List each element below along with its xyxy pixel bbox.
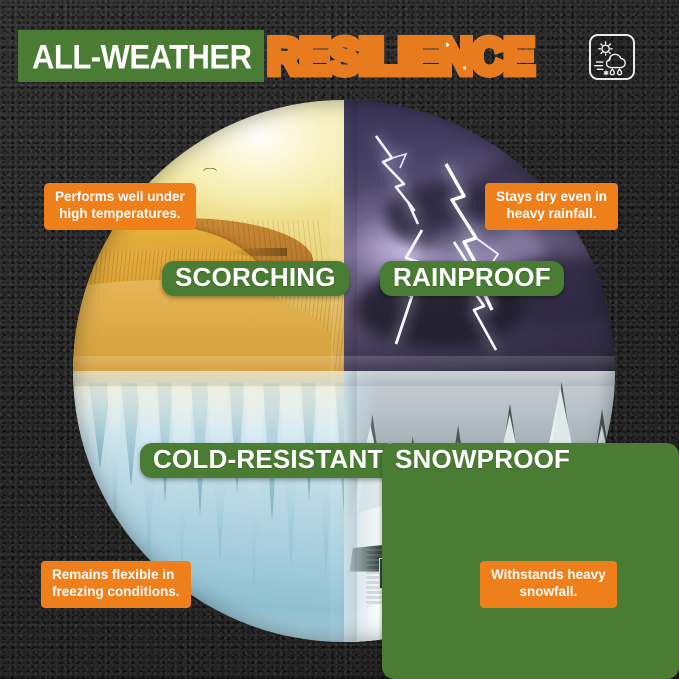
callout-rainproof: Stays dry even in heavy rainfall. (485, 183, 618, 230)
header-title-bar: ALL-WEATHER RESILIENCE (18, 30, 540, 82)
title-part2-text: RESILIENCE (268, 31, 534, 81)
label-cold-resistant: COLD-RESISTANT (140, 443, 397, 478)
callout-snowproof-line1: Withstands heavy (491, 567, 606, 584)
callout-cold-resistant: Remains flexible in freezing conditions. (41, 561, 191, 608)
weather-sun-cloud-wind-rain-snow-icon (591, 36, 633, 78)
callout-rainproof-line1: Stays dry even in (496, 189, 607, 206)
callout-scorching-line1: Performs well under (55, 189, 185, 206)
quadrant-rainproof-image (344, 100, 615, 371)
callout-snowproof: Withstands heavy snowfall. (480, 561, 617, 608)
title-part1-banner: ALL-WEATHER (18, 30, 264, 82)
label-scorching-text: SCORCHING (175, 264, 336, 291)
weather-badge (589, 34, 635, 80)
title-part1-text: ALL-WEATHER (32, 39, 252, 74)
callout-snowproof-line2: snowfall. (491, 584, 606, 601)
callout-rainproof-line2: heavy rainfall. (496, 206, 607, 223)
title-part2-banner: RESILIENCE (262, 30, 540, 82)
callout-cold-resistant-line2: freezing conditions. (52, 584, 180, 601)
poster-canvas: ALL-WEATHER RESILIENCE SCORCHING RAINPRO… (0, 0, 679, 679)
callout-scorching: Performs well under high temperatures. (44, 183, 196, 230)
callout-cold-resistant-line1: Remains flexible in (52, 567, 180, 584)
label-snowproof-text: SNOWPROOF (395, 446, 666, 473)
label-rainproof-text: RAINPROOF (393, 264, 551, 291)
label-scorching: SCORCHING (162, 261, 349, 296)
label-cold-resistant-text: COLD-RESISTANT (153, 446, 384, 473)
callout-scorching-line2: high temperatures. (55, 206, 185, 223)
label-rainproof: RAINPROOF (380, 261, 564, 296)
quadrant-scorching-image (73, 100, 344, 371)
lightning-bolt-icon (370, 132, 440, 227)
bird-silhouette-icon (203, 168, 217, 175)
